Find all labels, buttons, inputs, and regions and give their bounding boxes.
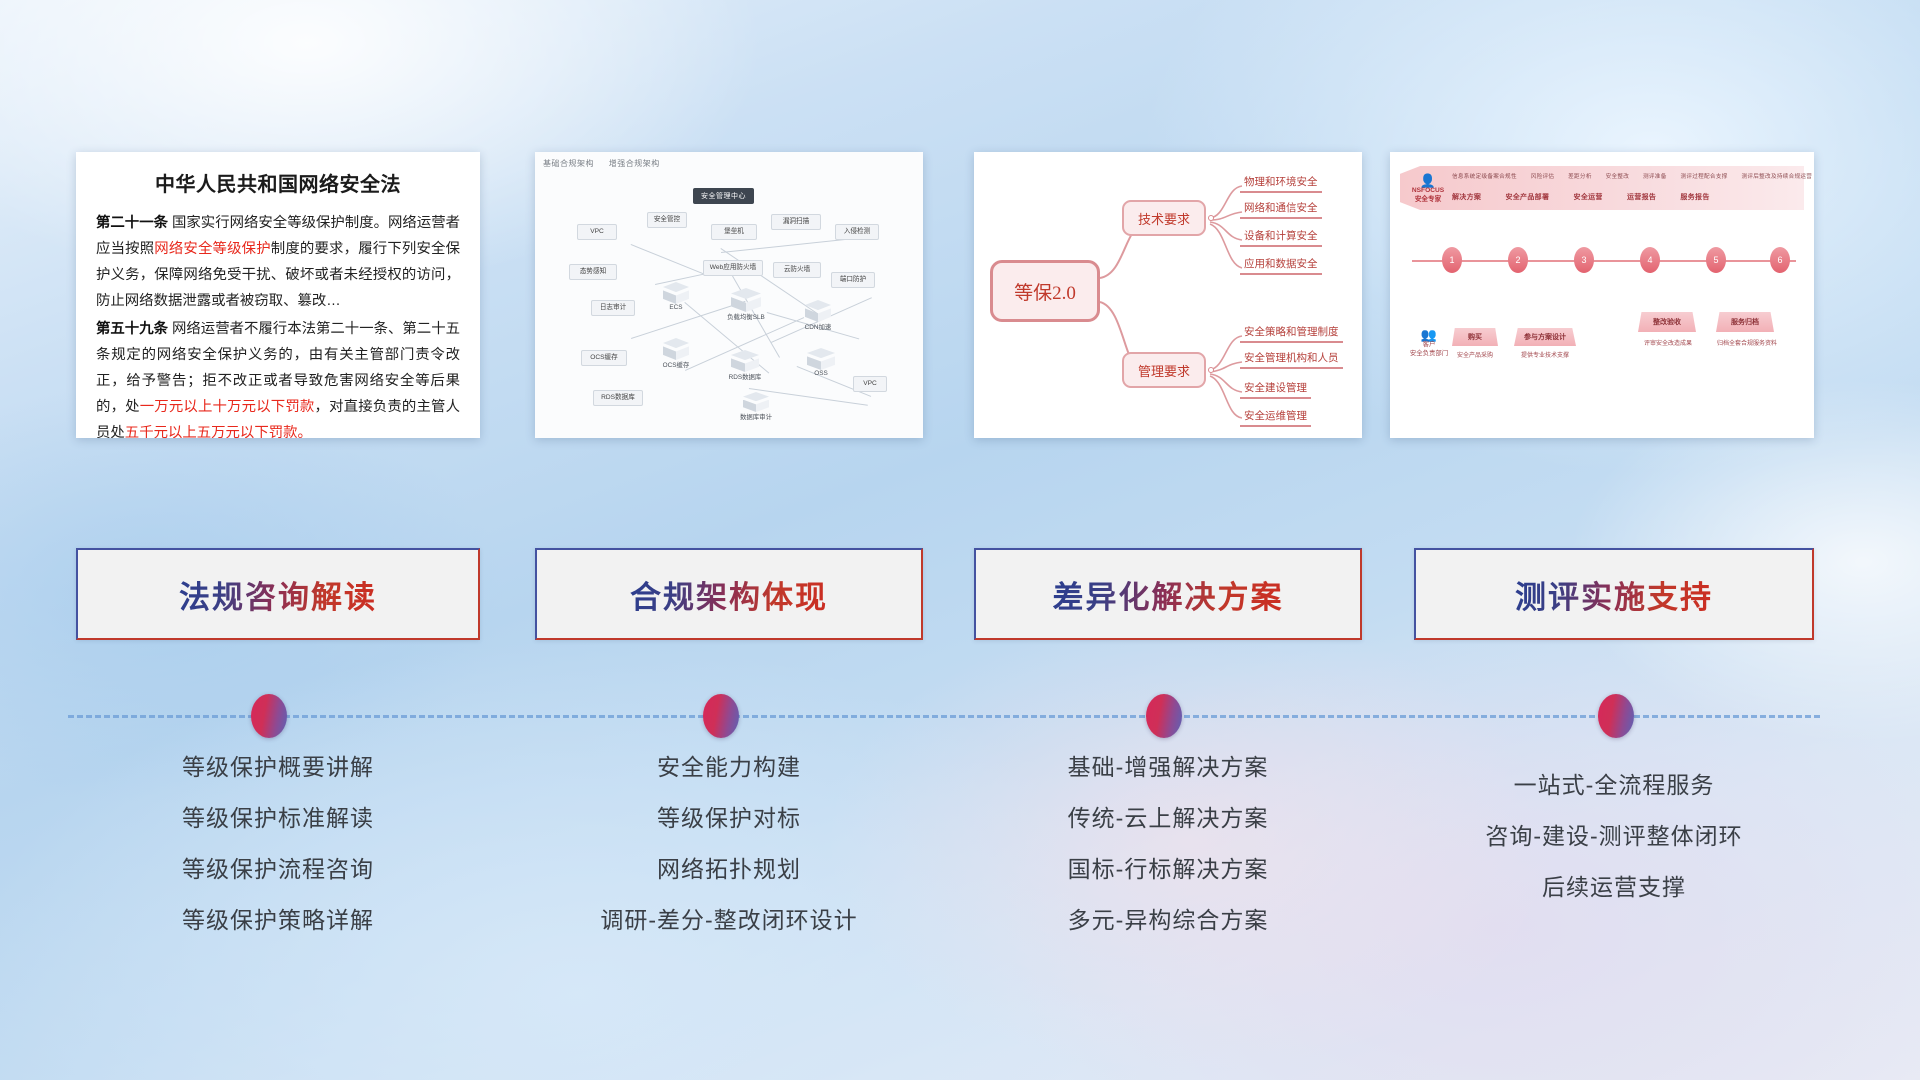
article-59-highlight-2: 五千元以上五万元以下罚款。 — [125, 425, 312, 438]
list-item: 一站式-全流程服务 — [1414, 760, 1814, 811]
law-article-59: 第五十九条 网络运营者不履行本法第二十一条、第二十五条规定的网络安全保护义务的，… — [96, 316, 460, 438]
roadmap-right-sub: 归档全套合规服务资料 — [1706, 338, 1788, 347]
band-main-item: 安全产品部署 — [1505, 194, 1549, 201]
roadmap-person-icon: 👤 — [1406, 174, 1450, 187]
mindmap-branch-technical: 技术要求 — [1122, 200, 1206, 236]
arch-cube: OCS缓存 — [663, 338, 689, 360]
category-label: 合规架构体现 — [630, 572, 828, 617]
list-item: 安全能力构建 — [535, 742, 923, 793]
card-service-roadmap[interactable]: 👤 NSFOCUS 安全专家 信息系统定级备案合规性 风险评估 差距分析 安全整… — [1390, 152, 1814, 438]
band-top-item: 风险评估 — [1531, 174, 1555, 180]
arch-dark-tag: 安全管理中心 — [693, 188, 754, 204]
category-button-regulation-consulting[interactable]: 法规咨询解读 — [76, 548, 480, 640]
preview-cards-row: 中华人民共和国网络安全法 第二十一条 国家实行网络安全等级保护制度。网络运营者应… — [0, 152, 1920, 442]
article-number-59: 第五十九条 — [96, 321, 168, 337]
roadmap-right-sub: 评审安全改造成果 — [1628, 338, 1708, 347]
mindmap-collapse-dot[interactable] — [1208, 367, 1214, 373]
arch-cube-label: 数据库审计 — [730, 412, 782, 421]
arch-node: OCS缓存 — [581, 350, 627, 366]
detail-lists-row: 等级保护概要讲解 等级保护标准解读 等级保护流程咨询 等级保护策略详解 安全能力… — [0, 742, 1920, 962]
list-item: 调研-差分-整改闭环设计 — [535, 895, 923, 946]
timeline-dot-1[interactable] — [251, 694, 287, 738]
category-button-evaluation-support[interactable]: 测评实施支持 — [1414, 548, 1814, 640]
architecture-diagram: 基础合规架构 增强合规架构 安全管理中心 VPC 态势感知 — [535, 152, 923, 438]
arch-cube-label: 负载均衡SLB — [716, 312, 776, 321]
band-top-item: 测评准备 — [1643, 174, 1667, 180]
arch-node: VPC — [853, 376, 887, 392]
mindmap-root-node: 等保2.0 — [990, 260, 1100, 322]
roadmap-left-sub: 安全产品采购 — [1452, 350, 1498, 359]
arch-cube-label: OCS缓存 — [650, 360, 702, 369]
service-roadmap: 👤 NSFOCUS 安全专家 信息系统定级备案合规性 风险评估 差距分析 安全整… — [1390, 152, 1814, 438]
arch-cube: 负载均衡SLB — [731, 288, 761, 312]
arch-node: 日志审计 — [591, 300, 635, 316]
band-top-item: 测评过程配合支撑 — [1680, 174, 1727, 180]
roadmap-band-main-labels: 解决方案 安全产品部署 安全运营 运营报告 服务报告 — [1452, 192, 1732, 202]
category-button-differentiated-solution[interactable]: 差异化解决方案 — [974, 548, 1362, 640]
timeline-dot-3[interactable] — [1146, 694, 1182, 738]
arch-line — [631, 244, 704, 274]
arch-cube: 数据库审计 — [743, 392, 769, 412]
customer-label: 客户 — [1408, 341, 1450, 350]
list-item: 等级保护策略详解 — [76, 895, 480, 946]
roadmap-brand-sub: 安全专家 — [1406, 196, 1450, 205]
mindmap-leaf: 安全建设管理 — [1240, 380, 1311, 399]
arch-cube-label: OSS — [793, 370, 849, 377]
band-top-item: 安全整改 — [1606, 174, 1630, 180]
arch-node: 漏洞扫描 — [771, 214, 821, 230]
timeline-dashed-line — [68, 715, 1820, 718]
arch-node: Web应用防火墙 — [703, 260, 763, 276]
mindmap-leaf: 设备和计算安全 — [1240, 228, 1322, 247]
roadmap-left-sub: 提供专业技术支撑 — [1508, 350, 1582, 359]
customer-person-icon: 👥 — [1408, 328, 1450, 341]
roadmap-customer: 👥 客户 安全负责部门 — [1408, 328, 1450, 359]
list-item: 等级保护对标 — [535, 793, 923, 844]
mindmap: 等保2.0 技术要求 物理和环境安全 网络和通信安全 设备和计算安全 应用和数据… — [974, 152, 1362, 438]
list-item: 咨询-建设-测评整体闭环 — [1414, 811, 1814, 862]
roadmap-step[interactable]: 2 — [1508, 247, 1528, 273]
arch-tag-enhanced: 增强合规架构 — [609, 159, 660, 168]
list-item: 国标-行标解决方案 — [974, 844, 1362, 895]
roadmap-axis-line — [1412, 260, 1796, 262]
arch-node: 云防火墙 — [773, 262, 821, 278]
mindmap-leaf: 物理和环境安全 — [1240, 174, 1322, 193]
mindmap-leaf: 安全运维管理 — [1240, 408, 1311, 427]
roadmap-left-badge: 参与方案设计 — [1514, 328, 1576, 346]
detail-list-compliance-architecture: 安全能力构建 等级保护对标 网络拓扑规划 调研-差分-整改闭环设计 — [535, 742, 923, 946]
arch-cube-label: CDN加速 — [792, 322, 844, 331]
category-label: 测评实施支持 — [1515, 572, 1713, 617]
arch-cube: ECS — [663, 282, 689, 304]
list-item: 基础-增强解决方案 — [974, 742, 1362, 793]
arch-cube-label: ECS — [650, 304, 702, 311]
timeline-dot-4[interactable] — [1598, 694, 1634, 738]
arch-node: RDS数据库 — [593, 390, 643, 406]
roadmap-step[interactable]: 3 — [1574, 247, 1594, 273]
article-59-highlight-1: 一万元以上十万元以下罚款 — [140, 399, 315, 415]
arch-node: 端口防护 — [831, 272, 875, 288]
arch-cube: RDS数据库 — [731, 350, 759, 372]
band-top-item: 差距分析 — [1568, 174, 1592, 180]
band-main-item: 解决方案 — [1452, 194, 1481, 201]
roadmap-band-top-labels: 信息系统定级备案合规性 风险评估 差距分析 安全整改 测评准备 测评过程配合支撑… — [1452, 172, 1814, 180]
mindmap-leaf: 网络和通信安全 — [1240, 200, 1322, 219]
band-top-item: 信息系统定级备案合规性 — [1452, 174, 1517, 180]
card-cloud-architecture[interactable]: 基础合规架构 增强合规架构 安全管理中心 VPC 态势感知 — [535, 152, 923, 438]
arch-node: VPC — [577, 224, 617, 240]
detail-list-evaluation-support: 一站式-全流程服务 咨询-建设-测评整体闭环 后续运营支撑 — [1414, 760, 1814, 913]
roadmap-brand: 👤 NSFOCUS 安全专家 — [1406, 174, 1450, 205]
card-cybersecurity-law[interactable]: 中华人民共和国网络安全法 第二十一条 国家实行网络安全等级保护制度。网络运营者应… — [76, 152, 480, 438]
list-item: 多元-异构综合方案 — [974, 895, 1362, 946]
law-article-21: 第二十一条 国家实行网络安全等级保护制度。网络运营者应当按照网络安全等级保护制度… — [96, 210, 460, 314]
arch-node: 堡垒机 — [711, 224, 757, 240]
band-top-item: 测评后整改及持续合规运营 — [1741, 174, 1812, 180]
mindmap-branch-management: 管理要求 — [1122, 352, 1206, 388]
detail-list-differentiated-solution: 基础-增强解决方案 传统-云上解决方案 国标-行标解决方案 多元-异构综合方案 — [974, 742, 1362, 946]
roadmap-step[interactable]: 6 — [1770, 247, 1790, 273]
list-item: 后续运营支撑 — [1414, 862, 1814, 913]
band-main-item: 运营报告 — [1627, 194, 1656, 201]
roadmap-right-badge: 服务归档 — [1716, 312, 1774, 332]
category-buttons-row: 法规咨询解读 合规架构体现 差异化解决方案 测评实施支持 — [0, 548, 1920, 644]
roadmap-left-badge: 购买 — [1452, 328, 1498, 346]
band-main-item: 服务报告 — [1680, 194, 1709, 201]
architecture-header-tags: 基础合规架构 增强合规架构 — [543, 158, 672, 169]
arch-node: 安全管控 — [647, 212, 687, 228]
law-document: 中华人民共和国网络安全法 第二十一条 国家实行网络安全等级保护制度。网络运营者应… — [76, 152, 480, 438]
list-item: 网络拓扑规划 — [535, 844, 923, 895]
list-item: 等级保护概要讲解 — [76, 742, 480, 793]
mindmap-collapse-dot[interactable] — [1208, 215, 1214, 221]
arch-cube-label: RDS数据库 — [717, 372, 773, 381]
timeline-dot-2[interactable] — [703, 694, 739, 738]
mindmap-leaf: 安全管理机构和人员 — [1240, 350, 1343, 369]
category-label: 差异化解决方案 — [1053, 572, 1284, 617]
list-item: 等级保护标准解读 — [76, 793, 480, 844]
law-title: 中华人民共和国网络安全法 — [96, 168, 460, 197]
roadmap-right-badge: 整改验收 — [1638, 312, 1696, 332]
arch-cube: CDN加速 — [805, 300, 831, 322]
arch-node: 入侵检测 — [835, 224, 879, 240]
category-label: 法规咨询解读 — [179, 572, 377, 617]
list-item: 传统-云上解决方案 — [974, 793, 1362, 844]
band-main-item: 安全运营 — [1574, 194, 1603, 201]
arch-tag-basic: 基础合规架构 — [543, 159, 594, 168]
roadmap-step[interactable]: 5 — [1706, 247, 1726, 273]
card-dengbao-mindmap[interactable]: 等保2.0 技术要求 物理和环境安全 网络和通信安全 设备和计算安全 应用和数据… — [974, 152, 1362, 438]
article-number-21: 第二十一条 — [96, 215, 168, 231]
roadmap-brand-name: NSFOCUS — [1406, 187, 1450, 196]
arch-cube: OSS — [807, 348, 835, 370]
list-item: 等级保护流程咨询 — [76, 844, 480, 895]
mindmap-leaf: 安全策略和管理制度 — [1240, 324, 1343, 343]
article-21-highlight: 网络安全等级保护 — [154, 241, 271, 257]
timeline — [0, 694, 1920, 738]
category-button-compliance-architecture[interactable]: 合规架构体现 — [535, 548, 923, 640]
roadmap-step[interactable]: 1 — [1442, 247, 1462, 273]
arch-node: 态势感知 — [569, 264, 617, 280]
mindmap-leaf: 应用和数据安全 — [1240, 256, 1322, 275]
roadmap-step[interactable]: 4 — [1640, 247, 1660, 273]
customer-sub: 安全负责部门 — [1408, 350, 1450, 359]
detail-list-regulation-consulting: 等级保护概要讲解 等级保护标准解读 等级保护流程咨询 等级保护策略详解 — [76, 742, 480, 946]
